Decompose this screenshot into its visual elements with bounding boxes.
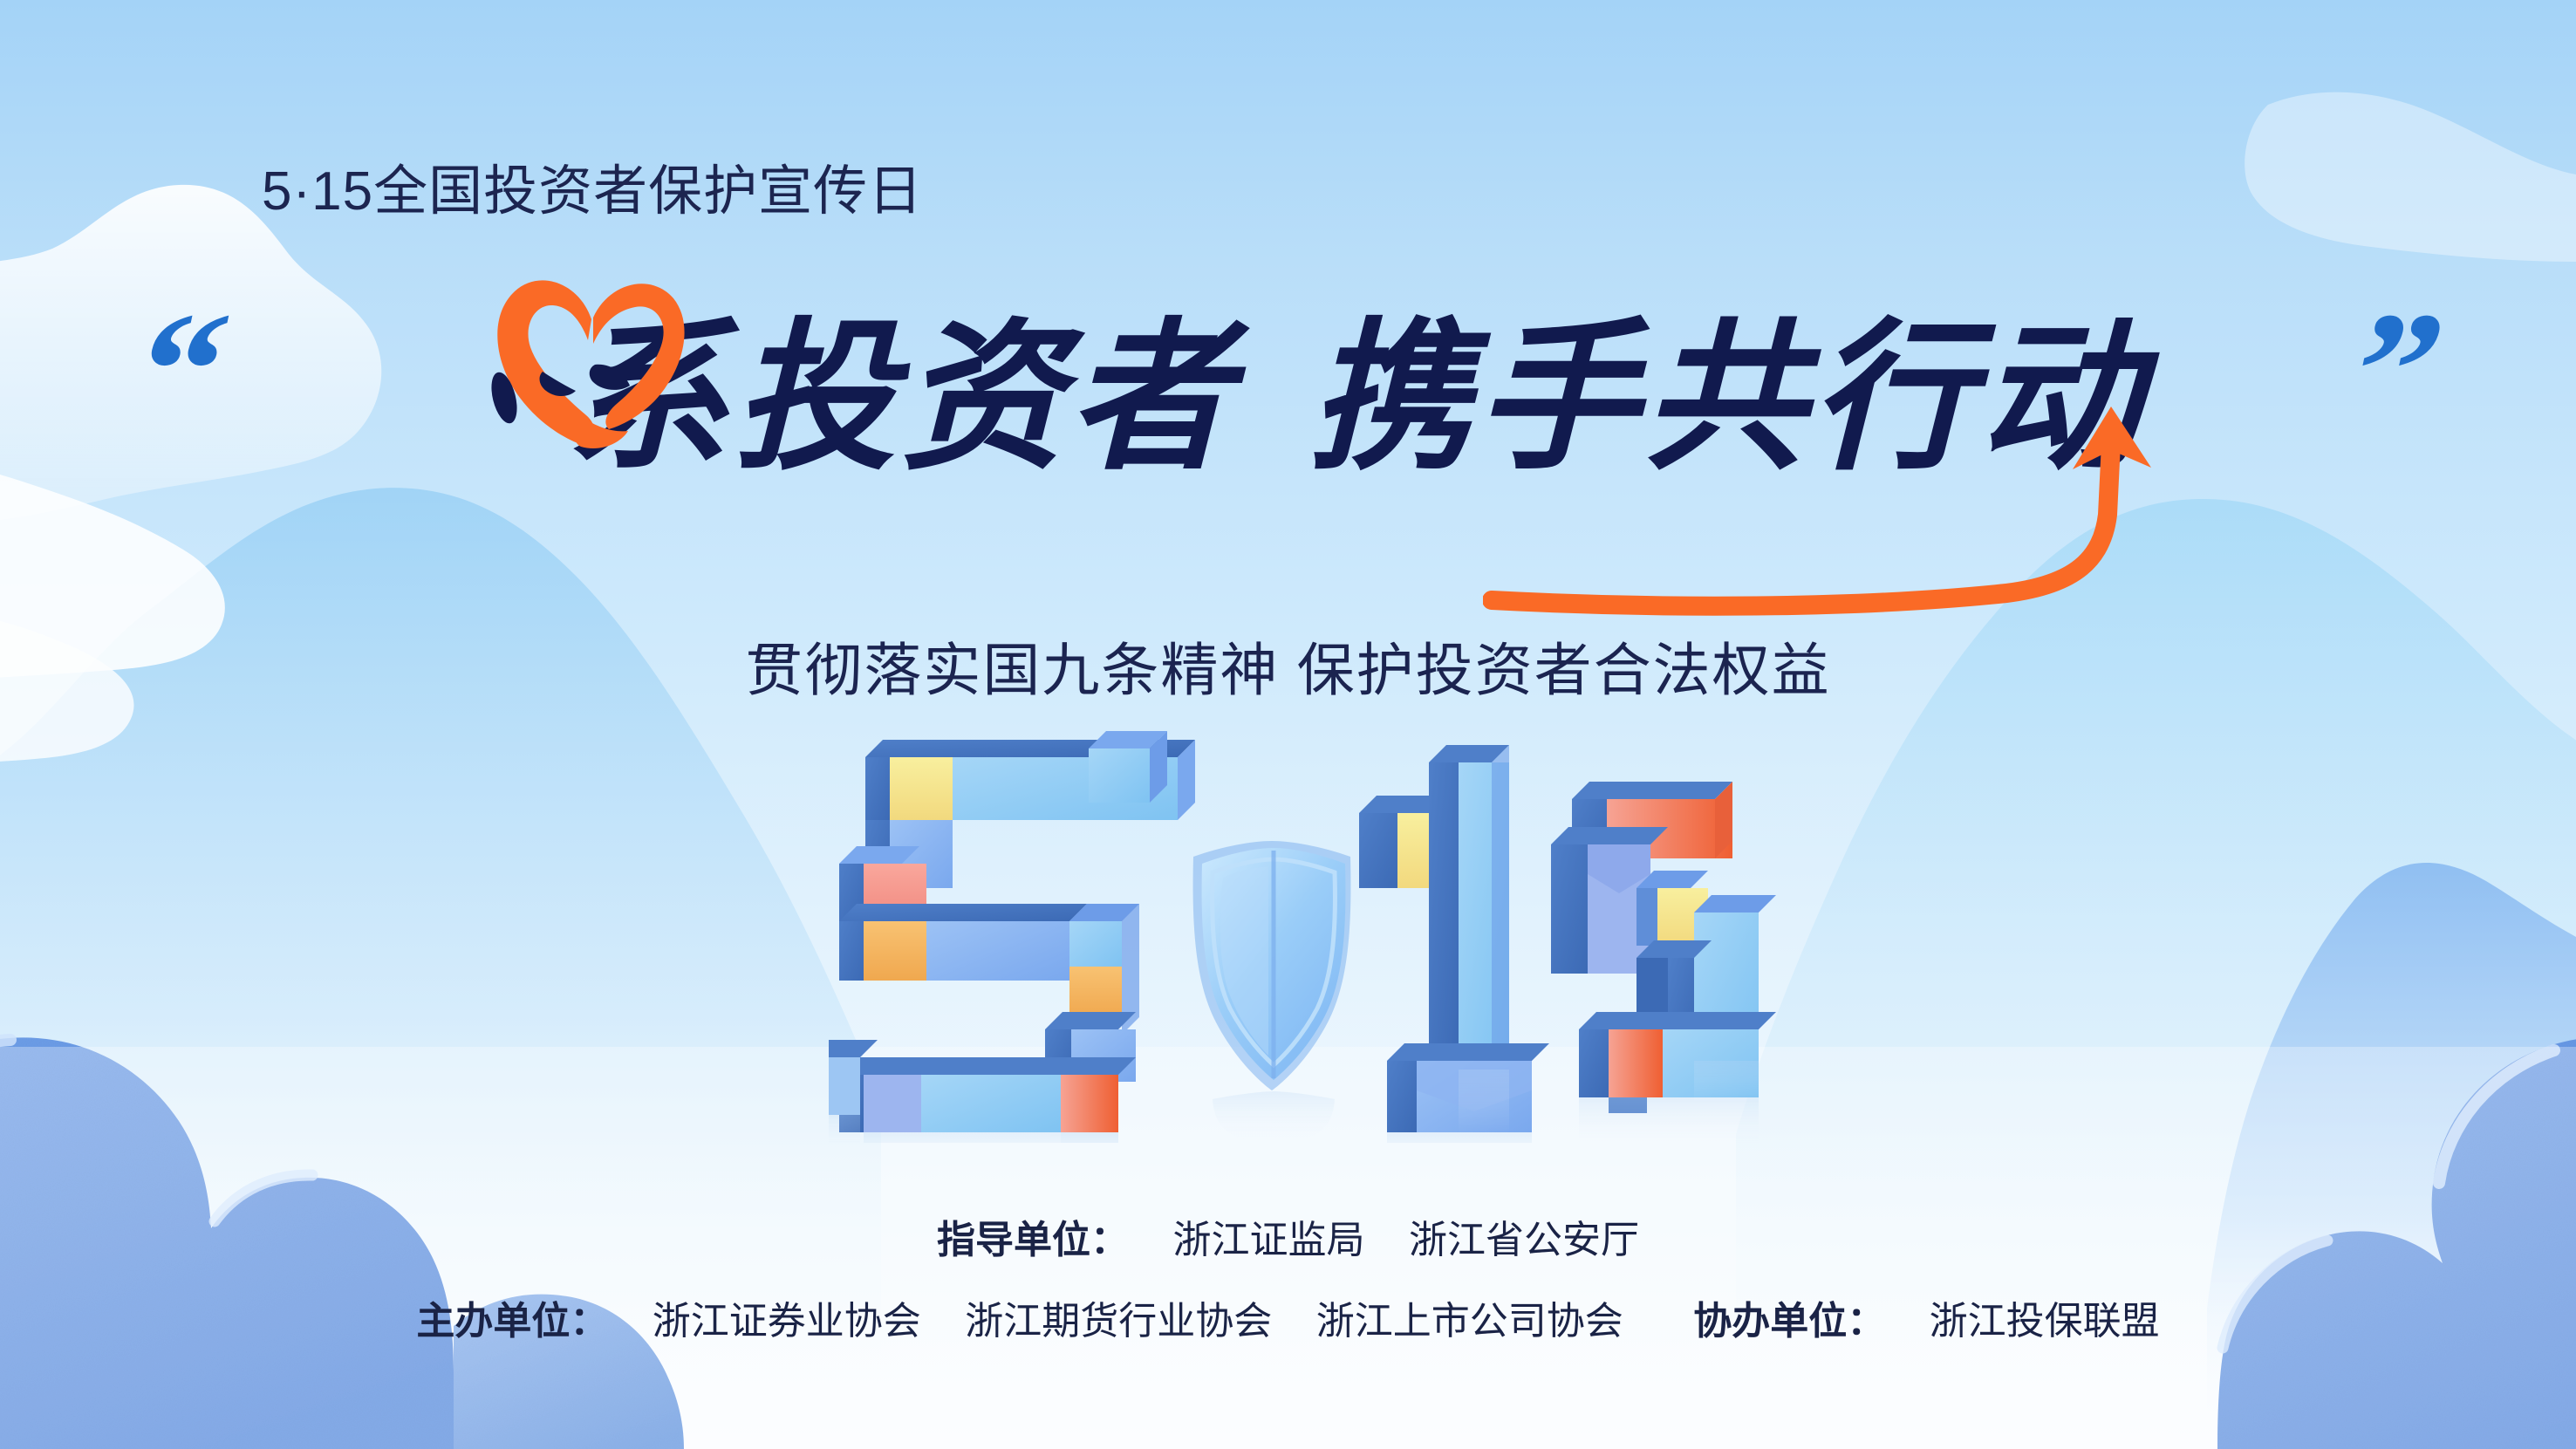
sponsor-host-org-3: 浙江上市公司协会 [1316,1300,1623,1343]
sponsor-label-cohost: 协办单位： [1693,1300,1885,1343]
logo-515 [829,724,1788,1143]
sponsor-cohost-org-1: 浙江投保联盟 [1930,1300,2160,1343]
sponsor-host-org-2: 浙江期货行业协会 [965,1300,1272,1343]
sponsor-label-guidance: 指导单位： [937,1219,1129,1261]
sponsor-label-host: 主办单位： [416,1300,608,1343]
shield-icon [1193,841,1351,1090]
headline-block: “ 系投资者 携手共行动 ” [0,262,2576,611]
logo-digit-left-5 [829,731,1195,1132]
page-subtitle: 贯彻落实国九条精神 保护投资者合法权益 [0,624,2576,707]
sponsor-host-org-1: 浙江证券业协会 [653,1300,921,1343]
quote-open-icon: “ [122,288,240,454]
sponsor-line-hosts: 主办单位： 浙江证券业协会 浙江期货行业协会 浙江上市公司协会 协办单位： 浙江… [0,1289,2576,1345]
sponsor-org-1: 浙江证监局 [1173,1219,1365,1261]
sponsor-org-2: 浙江省公安厅 [1409,1219,1639,1261]
sponsor-line-guidance: 指导单位： 浙江证监局 浙江省公安厅 [0,1208,2576,1264]
orange-rising-arrow-icon [1483,393,2460,619]
investor-protection-banner: 5·15全国投资者保护宣传日 “ 系投资者 携手共行动 [0,0,2576,1449]
heart-character-xin [489,279,536,454]
logo-digit-1 [1359,745,1549,1132]
page-eyebrow: 5·15全国投资者保护宣传日 [262,147,923,225]
